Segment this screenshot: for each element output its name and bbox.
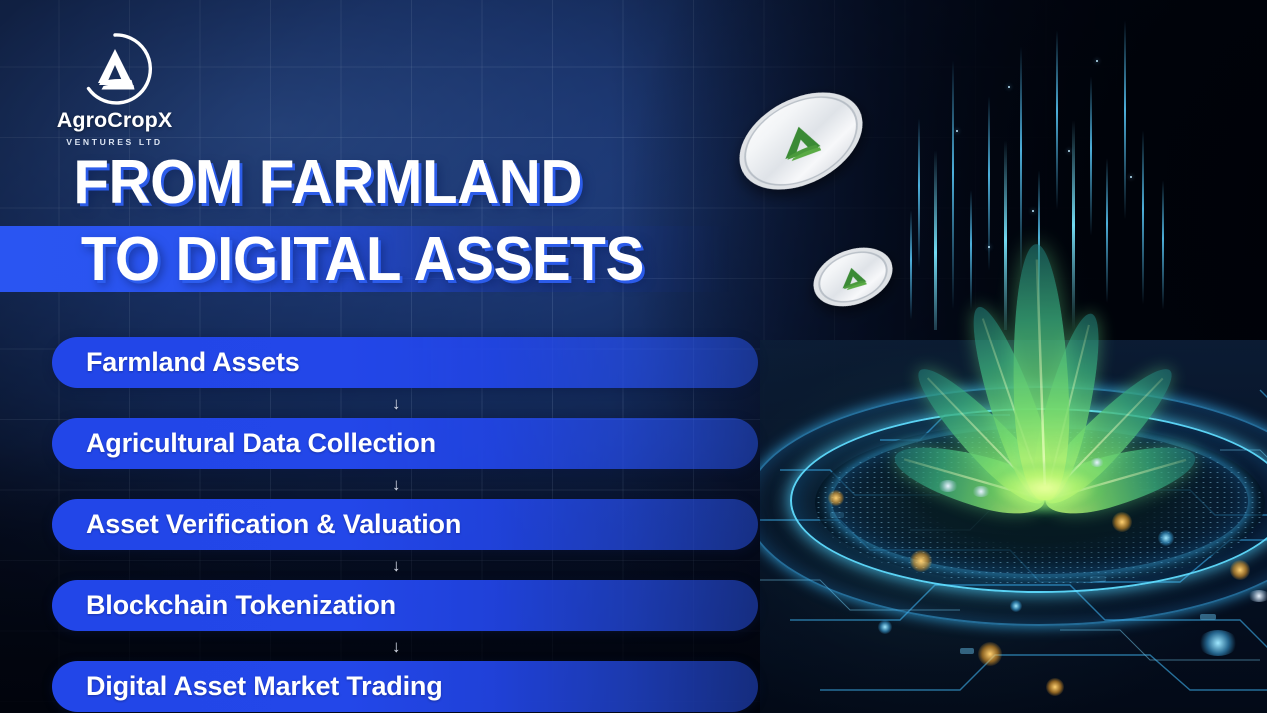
step-pill-farmland-assets[interactable]: Farmland Assets: [52, 337, 758, 388]
step-label: Digital Asset Market Trading: [52, 671, 443, 702]
coin-logo-icon: [771, 114, 830, 168]
headline: FROM FARMLAND TO DIGITAL ASSETS: [0, 152, 780, 292]
node-light: [1046, 678, 1064, 696]
node-light: [1248, 590, 1267, 602]
node-light: [828, 490, 844, 506]
brand-logo: AgroCropX VENTURES LTD: [47, 30, 182, 150]
arrow-down-icon: ↓: [392, 395, 401, 412]
headline-highlight-band: TO DIGITAL ASSETS: [0, 226, 780, 292]
promo-banner: AgroCropX VENTURES LTD FROM FARMLAND TO …: [0, 0, 1267, 713]
node-light: [1090, 458, 1104, 467]
node-light: [1158, 530, 1174, 546]
brand-subtitle: VENTURES LTD: [47, 138, 182, 147]
step-pill-blockchain-tokenization[interactable]: Blockchain Tokenization: [52, 580, 758, 631]
step-arrow-separator: ↓: [52, 469, 764, 499]
step-pill-digital-asset-market-trading[interactable]: Digital Asset Market Trading: [52, 661, 758, 712]
node-light: [1198, 630, 1238, 656]
node-light: [1230, 560, 1250, 580]
step-label: Agricultural Data Collection: [52, 428, 436, 459]
arrow-down-icon: ↓: [392, 638, 401, 655]
brand-name: AgroCropX: [47, 110, 182, 132]
node-light: [878, 620, 892, 634]
node-light: [938, 480, 958, 492]
arrow-down-icon: ↓: [392, 557, 401, 574]
step-arrow-separator: ↓: [52, 388, 764, 418]
plant-glow-core: [985, 462, 1105, 514]
step-pill-asset-verification-valuation[interactable]: Asset Verification & Valuation: [52, 499, 758, 550]
node-light: [1010, 600, 1022, 612]
node-light: [972, 486, 990, 497]
step-label: Asset Verification & Valuation: [52, 509, 461, 540]
node-light: [910, 550, 932, 572]
node-light: [1112, 512, 1132, 532]
process-steps-list: Farmland Assets ↓ Agricultural Data Coll…: [52, 337, 764, 712]
digital-plant: [880, 210, 1210, 500]
step-label: Blockchain Tokenization: [52, 590, 396, 621]
headline-line-2: TO DIGITAL ASSETS: [0, 229, 644, 290]
agrocropx-mountain-logo-icon: [76, 30, 154, 108]
arrow-down-icon: ↓: [392, 476, 401, 493]
coin-logo-icon: [833, 260, 874, 293]
headline-line-1: FROM FARMLAND: [0, 152, 733, 213]
node-light: [978, 642, 1002, 666]
step-pill-agricultural-data-collection[interactable]: Agricultural Data Collection: [52, 418, 758, 469]
step-arrow-separator: ↓: [52, 631, 764, 661]
step-label: Farmland Assets: [52, 347, 300, 378]
step-arrow-separator: ↓: [52, 550, 764, 580]
